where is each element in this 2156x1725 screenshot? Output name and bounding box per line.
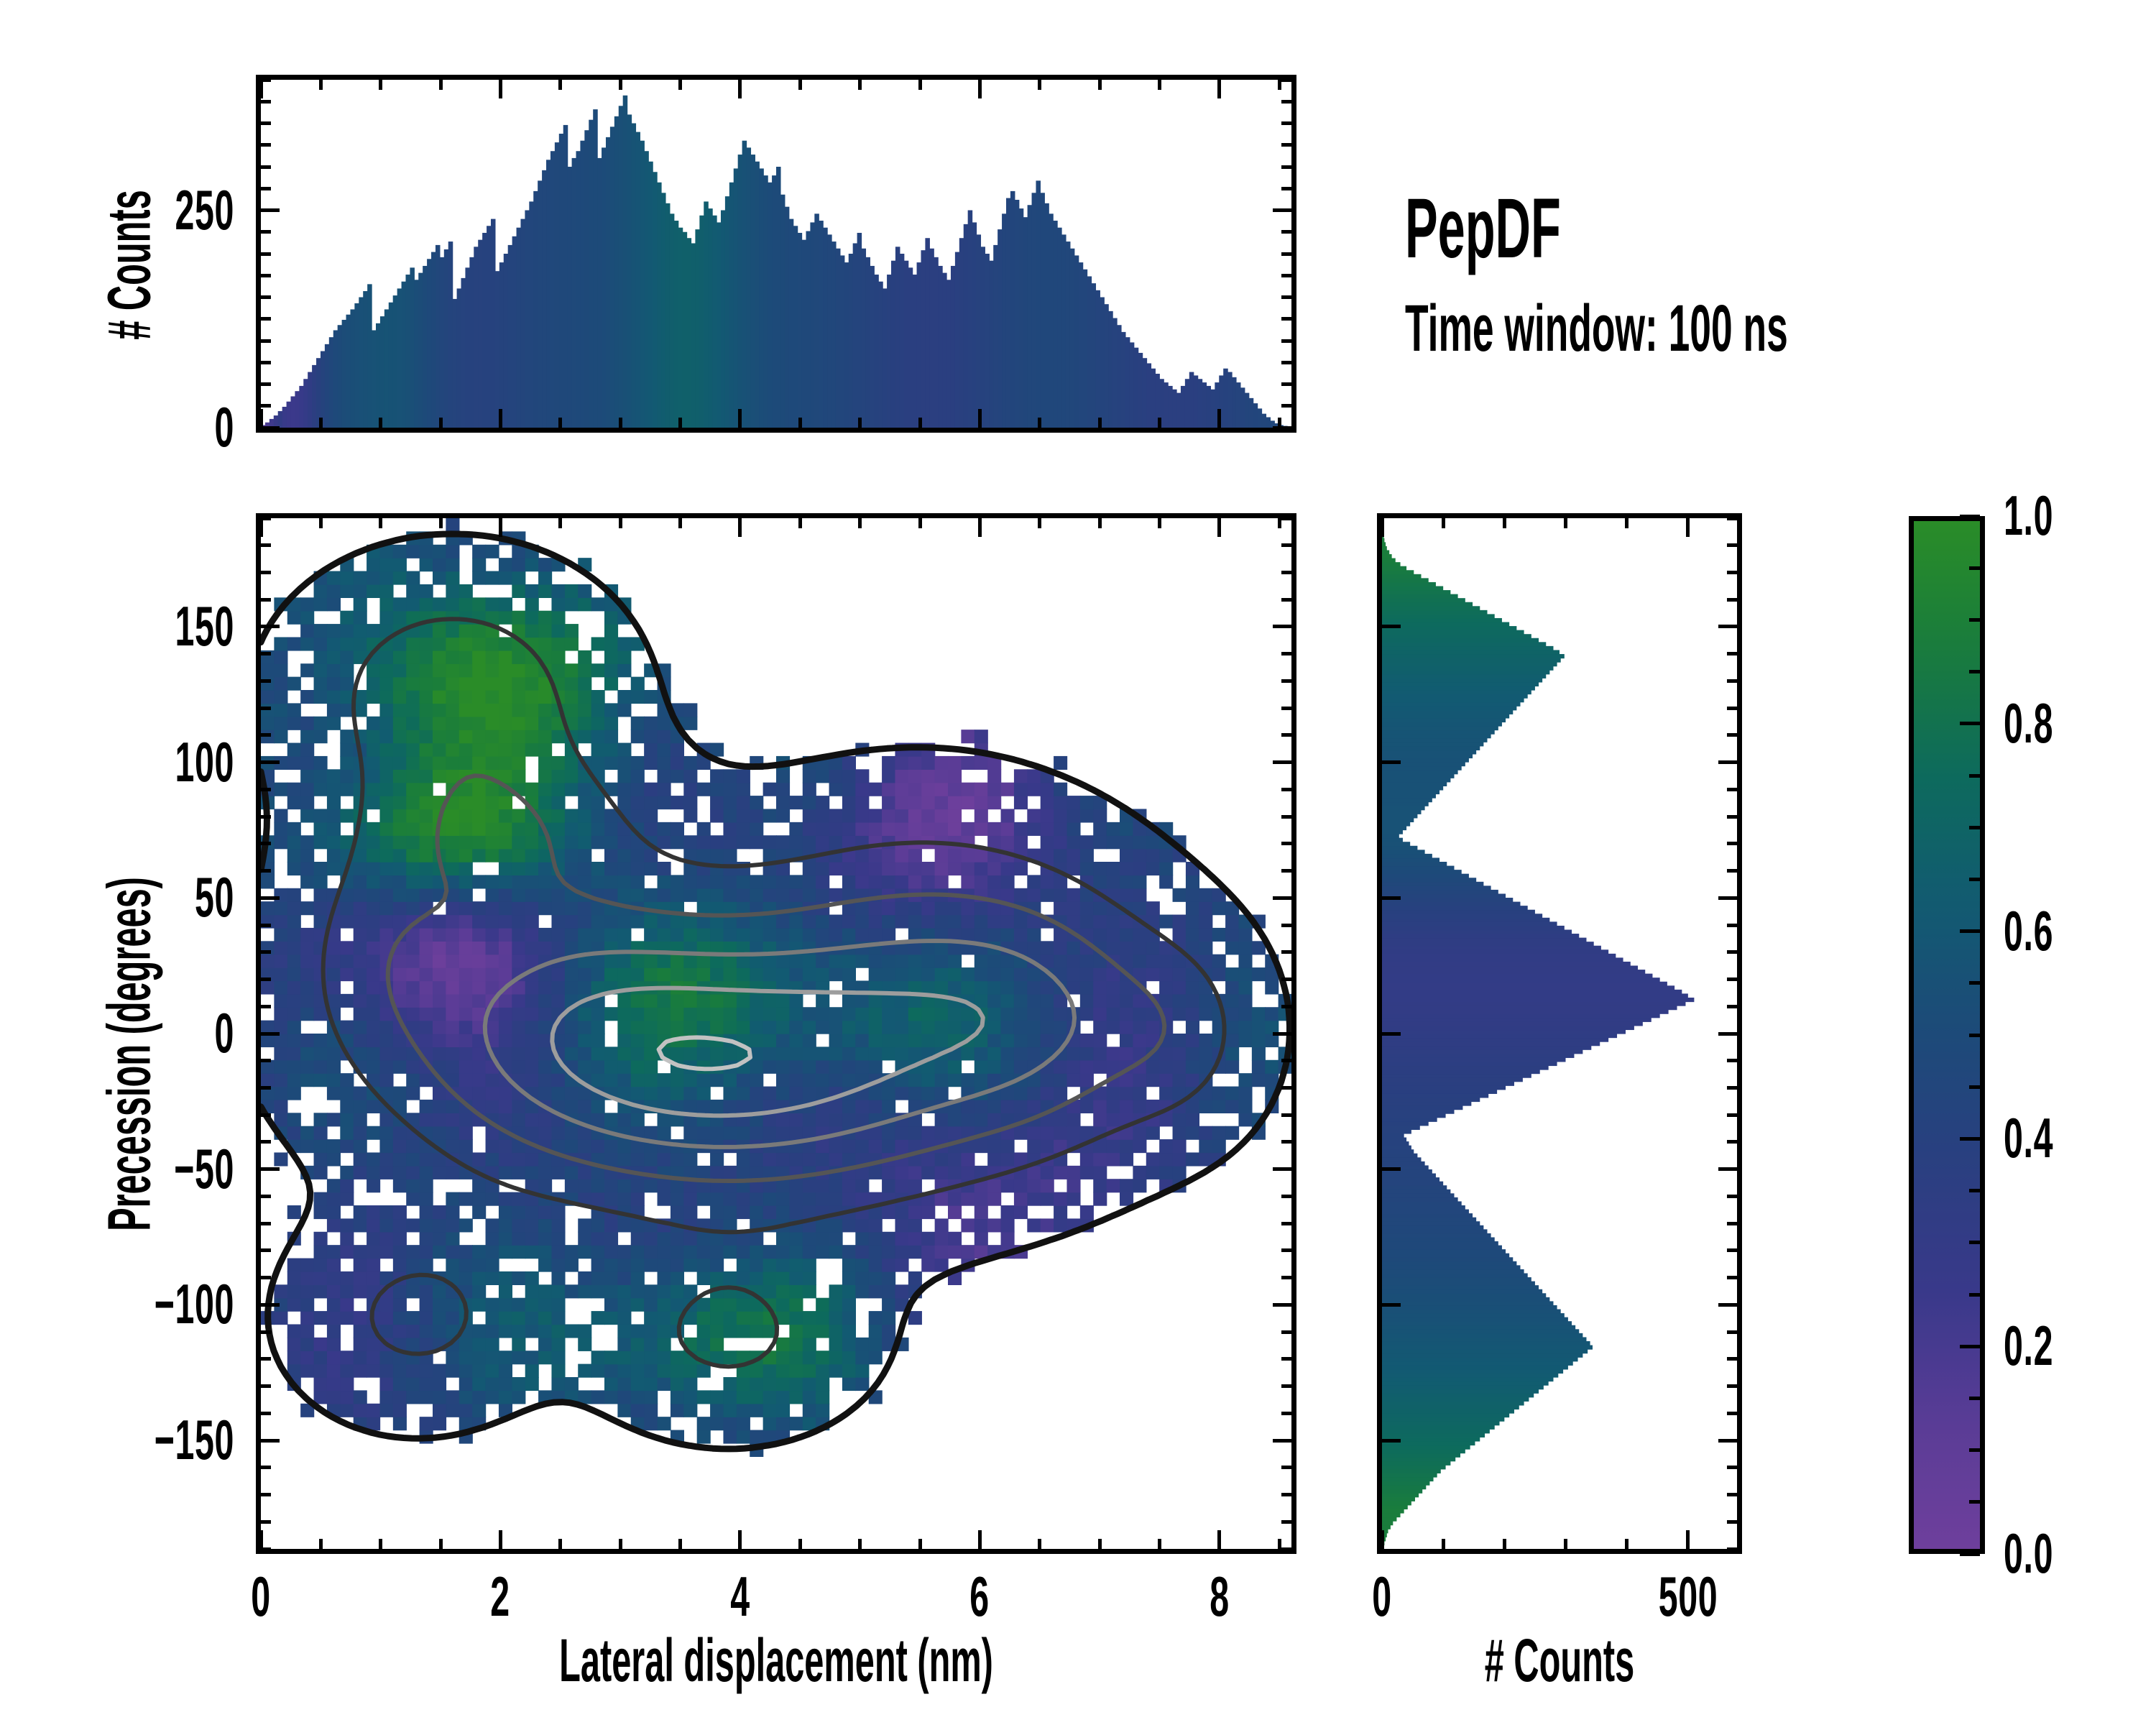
top-hist-x-major-tick-top: [499, 80, 502, 98]
y-minor-tick-right: [1281, 950, 1291, 954]
y-minor-tick: [261, 1276, 271, 1279]
x-major-tick-top: [259, 518, 263, 537]
y-major-tick-right: [1273, 625, 1291, 628]
y-minor-tick: [261, 869, 271, 873]
right-hist-y-minor-tick: [1727, 1195, 1737, 1198]
colorbar-minor-tick: [1969, 1448, 1980, 1452]
right-hist-y-major-tick: [1382, 1439, 1401, 1443]
top-hist-y-minor-tick-right: [1281, 121, 1291, 125]
top-hist-y-minor-tick: [261, 274, 271, 277]
right-hist-y-minor-tick: [1727, 1222, 1737, 1225]
top-hist-x-minor-tick: [858, 418, 862, 428]
top-hist-y-tick-label: 0: [101, 395, 234, 460]
y-major-tick: [261, 1032, 280, 1036]
right-hist-y-major-tick-right: [1718, 1303, 1737, 1307]
y-minor-tick: [261, 652, 271, 655]
y-minor-tick: [261, 1384, 271, 1388]
top-hist-x-minor-tick: [1158, 418, 1161, 428]
y-minor-tick-right: [1281, 1466, 1291, 1469]
top-hist-x-minor-tick: [558, 418, 562, 428]
right-hist-y-minor-tick: [1727, 1113, 1737, 1117]
y-minor-tick: [261, 1547, 271, 1551]
x-minor-tick-top: [439, 518, 443, 528]
right-hist-x-minor-tick: [1503, 1539, 1506, 1549]
colorbar-tick-label: 0.2: [2004, 1313, 2137, 1379]
top-hist-y-minor-tick-right: [1281, 361, 1291, 364]
top-hist-x-minor-tick-top: [918, 80, 922, 90]
top-hist-y-minor-tick: [261, 78, 271, 82]
x-major-tick: [738, 1530, 742, 1549]
y-minor-tick: [261, 1059, 271, 1062]
right-hist-y-major-tick: [1382, 625, 1401, 628]
colorbar-major-tick: [1960, 722, 1980, 725]
top-hist-x-minor-tick-top: [1098, 80, 1102, 90]
top-hist-x-major-tick-top: [978, 80, 982, 98]
top-hist-x-minor-tick-top: [379, 80, 382, 90]
right-hist-y-minor-tick: [1727, 1547, 1737, 1551]
y-minor-tick-right: [1281, 733, 1291, 737]
y-minor-tick: [261, 707, 271, 710]
top-hist-y-minor-tick-right: [1281, 165, 1291, 169]
time-window-label: Time window: 100 ns: [1405, 291, 1788, 367]
right-hist-x-minor-tick-top: [1503, 518, 1506, 528]
right-hist-y-major-tick-right: [1718, 1439, 1737, 1443]
right-hist-y-minor-tick: [1727, 1412, 1737, 1415]
y-minor-tick: [261, 1005, 271, 1008]
y-minor-tick: [261, 950, 271, 954]
colorbar-minor-tick: [1969, 1500, 1980, 1504]
right-hist-x-major-tick: [1381, 1530, 1384, 1549]
right-hist-y-minor-tick: [1727, 679, 1737, 683]
x-tick-label: 6: [918, 1564, 1043, 1629]
x-tick-label: 8: [1157, 1564, 1282, 1629]
y-minor-tick: [261, 1222, 271, 1225]
colorbar-tick-label: 0.4: [2004, 1105, 2137, 1171]
right-hist-x-major-tick-top: [1381, 518, 1384, 537]
y-minor-tick-right: [1281, 1412, 1291, 1415]
x-minor-tick: [319, 1539, 323, 1549]
top-hist-y-minor-tick-right: [1281, 317, 1291, 321]
top-hist-x-minor-tick: [1098, 418, 1102, 428]
top-hist-x-major-tick: [259, 409, 263, 428]
x-minor-tick: [678, 1539, 682, 1549]
right-hist-x-tick-label: 0: [1319, 1564, 1445, 1629]
top-hist-y-minor-tick-right: [1281, 382, 1291, 386]
page-title: PepDF: [1405, 180, 1561, 277]
x-minor-tick-top: [1038, 518, 1041, 528]
y-major-tick: [261, 1303, 280, 1307]
y-minor-tick-right: [1281, 517, 1291, 520]
x-major-tick: [978, 1530, 982, 1549]
right-hist-y-major-tick: [1382, 1167, 1401, 1171]
y-minor-tick: [261, 517, 271, 520]
colorbar-minor-tick: [1969, 774, 1980, 778]
top-hist-y-minor-tick-right: [1281, 339, 1291, 343]
y-minor-tick-right: [1281, 1248, 1291, 1252]
colorbar-minor-tick: [1969, 1034, 1980, 1037]
top-hist-x-minor-tick: [1038, 418, 1041, 428]
y-minor-tick: [261, 788, 271, 791]
x-minor-tick: [858, 1539, 862, 1549]
colorbar-tick-label: 0.6: [2004, 898, 2137, 964]
top-hist-x-minor-tick: [678, 418, 682, 428]
x-minor-tick-top: [1098, 518, 1102, 528]
y-minor-tick: [261, 1113, 271, 1117]
right-hist-y-minor-tick: [1727, 1140, 1737, 1144]
y-minor-tick-right: [1281, 1222, 1291, 1225]
right-histogram-x-axis-title: # Counts: [1393, 1626, 1726, 1696]
y-minor-tick-right: [1281, 1330, 1291, 1334]
main-x-axis-title: Lateral displacement (nm): [401, 1626, 1151, 1696]
top-hist-y-major-tick-right: [1273, 426, 1291, 430]
top-hist-x-minor-tick-top: [319, 80, 323, 90]
y-minor-tick-right: [1281, 1357, 1291, 1361]
y-minor-tick: [261, 977, 271, 981]
x-tick-label: 2: [438, 1564, 563, 1629]
colorbar-major-tick: [1960, 1552, 1980, 1556]
top-hist-x-major-tick-top: [1217, 80, 1221, 98]
top-hist-y-minor-tick: [261, 143, 271, 147]
x-minor-tick: [1158, 1539, 1161, 1549]
right-hist-y-minor-tick: [1727, 1357, 1737, 1361]
top-hist-x-minor-tick: [619, 418, 622, 428]
y-minor-tick-right: [1281, 788, 1291, 791]
y-minor-tick: [261, 1330, 271, 1334]
colorbar-tick-label: 0.0: [2004, 1521, 2137, 1586]
right-hist-y-minor-tick: [1727, 1466, 1737, 1469]
right-hist-y-minor-tick: [1727, 788, 1737, 791]
right-hist-y-major-tick-right: [1718, 1167, 1737, 1171]
top-hist-y-minor-tick: [261, 382, 271, 386]
x-major-tick: [499, 1530, 502, 1549]
y-tick-label: −50: [101, 1136, 234, 1202]
top-hist-x-major-tick: [738, 409, 742, 428]
y-minor-tick-right: [1281, 869, 1291, 873]
top-hist-y-minor-tick: [261, 165, 271, 169]
right-hist-y-minor-tick: [1727, 869, 1737, 873]
x-minor-tick: [1038, 1539, 1041, 1549]
top-hist-x-minor-tick: [439, 418, 443, 428]
right-hist-y-minor-tick: [1727, 1330, 1737, 1334]
x-minor-tick-top: [379, 518, 382, 528]
y-major-tick-right: [1273, 760, 1291, 764]
top-hist-y-minor-tick: [261, 230, 271, 234]
top-hist-y-minor-tick: [261, 404, 271, 408]
main-heatmap-plot-area: [261, 518, 1291, 1549]
y-minor-tick-right: [1281, 815, 1291, 819]
y-minor-tick: [261, 733, 271, 737]
y-tick-label: 100: [101, 730, 234, 795]
y-minor-tick-right: [1281, 842, 1291, 845]
y-minor-tick: [261, 1466, 271, 1469]
right-hist-y-major-tick: [1382, 1303, 1401, 1307]
y-minor-tick-right: [1281, 1493, 1291, 1496]
colorbar-minor-tick: [1969, 618, 1980, 622]
colorbar-minor-tick: [1969, 1293, 1980, 1297]
top-histogram-plot-area: [261, 80, 1291, 428]
y-major-tick: [261, 760, 280, 764]
colorbar-major-tick: [1960, 929, 1980, 933]
y-minor-tick-right: [1281, 679, 1291, 683]
x-major-tick: [259, 1530, 263, 1549]
y-minor-tick-right: [1281, 1384, 1291, 1388]
y-tick-label: 0: [101, 1000, 234, 1066]
y-minor-tick-right: [1281, 1276, 1291, 1279]
colorbar-minor-tick: [1969, 981, 1980, 985]
top-hist-y-minor-tick-right: [1281, 274, 1291, 277]
top-hist-y-major-tick: [261, 208, 280, 212]
y-tick-label: −100: [101, 1271, 234, 1337]
x-major-tick-top: [978, 518, 982, 537]
right-hist-y-minor-tick: [1727, 652, 1737, 655]
y-minor-tick: [261, 679, 271, 683]
right-hist-y-major-tick-right: [1718, 1032, 1737, 1036]
y-minor-tick-right: [1281, 924, 1291, 927]
top-hist-y-tick-label: 250: [101, 178, 234, 243]
right-hist-y-minor-tick: [1727, 1005, 1737, 1008]
colorbar-minor-tick: [1969, 1085, 1980, 1089]
x-minor-tick: [558, 1539, 562, 1549]
right-hist-x-minor-tick: [1625, 1539, 1628, 1549]
x-minor-tick-top: [858, 518, 862, 528]
y-major-tick: [261, 1439, 280, 1443]
right-hist-x-minor-tick-top: [1564, 518, 1567, 528]
y-minor-tick: [261, 1248, 271, 1252]
top-hist-x-minor-tick-top: [558, 80, 562, 90]
y-major-tick-right: [1273, 1303, 1291, 1307]
x-major-tick: [1217, 1530, 1221, 1549]
y-minor-tick: [261, 1520, 271, 1524]
y-minor-tick-right: [1281, 1113, 1291, 1117]
y-minor-tick: [261, 842, 271, 845]
right-hist-y-minor-tick: [1727, 571, 1737, 574]
colorbar-minor-tick: [1969, 1397, 1980, 1400]
right-hist-y-minor-tick: [1727, 950, 1737, 954]
top-hist-x-minor-tick-top: [1158, 80, 1161, 90]
right-hist-y-minor-tick: [1727, 977, 1737, 981]
y-minor-tick: [261, 1140, 271, 1144]
top-hist-y-minor-tick-right: [1281, 230, 1291, 234]
y-tick-label: 50: [101, 865, 234, 930]
x-minor-tick-top: [798, 518, 802, 528]
top-hist-y-minor-tick: [261, 339, 271, 343]
x-minor-tick-top: [1158, 518, 1161, 528]
right-hist-y-major-tick: [1382, 1032, 1401, 1036]
top-hist-y-minor-tick-right: [1281, 187, 1291, 190]
top-hist-x-major-tick: [1217, 409, 1221, 428]
y-minor-tick-right: [1281, 543, 1291, 547]
y-minor-tick-right: [1281, 1140, 1291, 1144]
right-hist-y-minor-tick: [1727, 842, 1737, 845]
y-minor-tick: [261, 571, 271, 574]
top-hist-x-minor-tick-top: [619, 80, 622, 90]
top-hist-x-minor-tick: [798, 418, 802, 428]
top-hist-y-minor-tick: [261, 361, 271, 364]
x-minor-tick: [439, 1539, 443, 1549]
top-hist-y-minor-tick: [261, 100, 271, 103]
y-minor-tick-right: [1281, 977, 1291, 981]
right-hist-y-minor-tick: [1727, 1493, 1737, 1496]
top-hist-x-minor-tick: [319, 418, 323, 428]
top-hist-y-minor-tick: [261, 121, 271, 125]
x-minor-tick-top: [558, 518, 562, 528]
y-minor-tick-right: [1281, 1195, 1291, 1198]
top-histogram-bars: [261, 80, 1291, 428]
x-minor-tick: [619, 1539, 622, 1549]
top-hist-y-minor-tick-right: [1281, 252, 1291, 256]
figure-canvas: # Counts Lateral displacement (nm) Prece…: [0, 0, 2156, 1725]
y-minor-tick: [261, 598, 271, 602]
right-hist-y-major-tick: [1382, 896, 1401, 900]
right-hist-y-major-tick-right: [1718, 625, 1737, 628]
x-minor-tick: [1098, 1539, 1102, 1549]
top-hist-y-minor-tick: [261, 252, 271, 256]
right-hist-x-major-tick-top: [1686, 518, 1690, 537]
x-minor-tick-top: [619, 518, 622, 528]
right-hist-y-minor-tick: [1727, 598, 1737, 602]
y-minor-tick: [261, 1357, 271, 1361]
y-minor-tick-right: [1281, 571, 1291, 574]
y-minor-tick-right: [1281, 707, 1291, 710]
top-hist-y-minor-tick-right: [1281, 100, 1291, 103]
top-hist-x-major-tick-top: [259, 80, 263, 98]
top-hist-y-major-tick-right: [1273, 208, 1291, 212]
colorbar-major-tick: [1960, 515, 1980, 518]
right-hist-y-major-tick-right: [1718, 760, 1737, 764]
y-minor-tick: [261, 924, 271, 927]
top-hist-y-minor-tick-right: [1281, 78, 1291, 82]
right-hist-x-tick-label: 500: [1626, 1564, 1751, 1629]
colorbar-minor-tick: [1969, 826, 1980, 829]
right-hist-y-minor-tick: [1727, 1276, 1737, 1279]
top-hist-y-minor-tick-right: [1281, 295, 1291, 299]
right-hist-y-minor-tick: [1727, 543, 1737, 547]
top-hist-y-minor-tick-right: [1281, 404, 1291, 408]
y-major-tick: [261, 1167, 280, 1171]
right-hist-y-minor-tick: [1727, 1059, 1737, 1062]
x-minor-tick: [379, 1539, 382, 1549]
y-minor-tick-right: [1281, 598, 1291, 602]
top-hist-x-minor-tick: [918, 418, 922, 428]
heatmap-cells-and-contours: [261, 518, 1291, 1549]
top-hist-x-major-tick-top: [738, 80, 742, 98]
x-major-tick-top: [499, 518, 502, 537]
right-hist-y-minor-tick: [1727, 1248, 1737, 1252]
y-minor-tick: [261, 1086, 271, 1090]
colorbar-minor-tick: [1969, 1241, 1980, 1244]
colorbar-tick-label: 0.8: [2004, 691, 2137, 756]
top-hist-y-minor-tick-right: [1281, 143, 1291, 147]
top-hist-x-minor-tick-top: [858, 80, 862, 90]
y-minor-tick: [261, 1195, 271, 1198]
top-hist-x-major-tick: [499, 409, 502, 428]
top-hist-x-major-tick: [978, 409, 982, 428]
y-minor-tick-right: [1281, 1086, 1291, 1090]
right-hist-y-minor-tick: [1727, 707, 1737, 710]
top-hist-x-minor-tick-top: [1038, 80, 1041, 90]
right-hist-x-minor-tick-top: [1625, 518, 1628, 528]
right-hist-y-minor-tick: [1727, 1520, 1737, 1524]
colorbar-minor-tick: [1969, 566, 1980, 570]
y-tick-label: −150: [101, 1407, 234, 1473]
colorbar-minor-tick: [1969, 670, 1980, 673]
right-hist-x-minor-tick: [1564, 1539, 1567, 1549]
right-hist-y-minor-tick: [1727, 1384, 1737, 1388]
y-major-tick-right: [1273, 1167, 1291, 1171]
colorbar-tick-label: 1.0: [2004, 483, 2137, 548]
y-major-tick-right: [1273, 896, 1291, 900]
top-hist-y-minor-tick: [261, 295, 271, 299]
top-hist-x-minor-tick-top: [678, 80, 682, 90]
top-hist-x-minor-tick: [379, 418, 382, 428]
top-hist-y-minor-tick: [261, 317, 271, 321]
x-minor-tick-top: [319, 518, 323, 528]
y-minor-tick-right: [1281, 652, 1291, 655]
right-hist-y-major-tick-right: [1718, 896, 1737, 900]
right-hist-y-major-tick: [1382, 760, 1401, 764]
x-minor-tick-top: [678, 518, 682, 528]
y-minor-tick: [261, 543, 271, 547]
top-hist-y-minor-tick: [261, 187, 271, 190]
right-histogram-plot-area: [1382, 518, 1737, 1549]
y-minor-tick-right: [1281, 1059, 1291, 1062]
x-tick-label: 4: [678, 1564, 803, 1629]
top-hist-x-minor-tick-top: [439, 80, 443, 90]
right-hist-y-minor-tick: [1727, 815, 1737, 819]
right-histogram-bars: [1382, 518, 1737, 1549]
x-major-tick-top: [738, 518, 742, 537]
right-hist-x-major-tick: [1686, 1530, 1690, 1549]
y-major-tick: [261, 896, 280, 900]
y-minor-tick: [261, 1412, 271, 1415]
x-minor-tick-top: [918, 518, 922, 528]
right-hist-x-minor-tick: [1442, 1539, 1445, 1549]
x-minor-tick: [918, 1539, 922, 1549]
y-minor-tick-right: [1281, 1005, 1291, 1008]
top-hist-x-minor-tick-top: [798, 80, 802, 90]
colorbar-minor-tick: [1969, 1189, 1980, 1192]
y-minor-tick: [261, 815, 271, 819]
y-major-tick-right: [1273, 1032, 1291, 1036]
right-hist-y-minor-tick: [1727, 733, 1737, 737]
colorbar-major-tick: [1960, 1137, 1980, 1141]
y-tick-label: 150: [101, 594, 234, 659]
x-major-tick-top: [1217, 518, 1221, 537]
y-major-tick-right: [1273, 1439, 1291, 1443]
y-major-tick: [261, 625, 280, 628]
right-hist-x-minor-tick-top: [1442, 518, 1445, 528]
right-hist-y-minor-tick: [1727, 924, 1737, 927]
y-minor-tick-right: [1281, 1547, 1291, 1551]
right-hist-y-minor-tick: [1727, 1086, 1737, 1090]
colorbar-major-tick: [1960, 1345, 1980, 1348]
top-hist-y-major-tick: [261, 426, 280, 430]
y-minor-tick: [261, 1493, 271, 1496]
x-tick-label: 0: [198, 1564, 323, 1629]
x-minor-tick: [798, 1539, 802, 1549]
right-hist-y-minor-tick: [1727, 517, 1737, 520]
colorbar-minor-tick: [1969, 878, 1980, 881]
y-minor-tick-right: [1281, 1520, 1291, 1524]
